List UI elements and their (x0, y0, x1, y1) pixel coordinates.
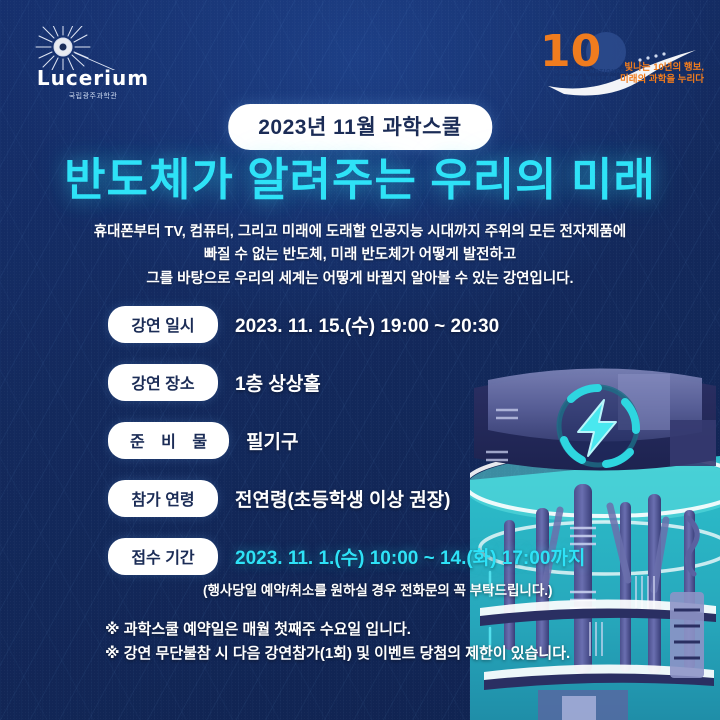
lucerium-logo: Lucerium 국립광주과학관 (18, 26, 168, 96)
detail-label-registration: 접수 기간 (108, 538, 218, 575)
description-line-3: 그를 바탕으로 우리의 세계는 어떻게 바뀔지 알아볼 수 있는 강연입니다. (0, 268, 720, 291)
detail-value-venue: 1층 상상홀 (235, 369, 321, 396)
description-line-1: 휴대폰부터 TV, 컴퓨터, 그리고 미래에 도래할 인공지능 시대까지 주위의… (0, 221, 720, 244)
detail-row-venue: 강연 장소 1층 상상홀 (108, 364, 668, 401)
detail-label-supplies: 준 비 물 (108, 422, 229, 459)
detail-row-supplies: 준 비 물 필기구 (108, 422, 668, 459)
footer-notes: ※ 과학스쿨 예약일은 매월 첫째주 수요일 입니다. ※ 강연 무단불참 시 … (105, 618, 570, 667)
detail-row-datetime: 강연 일시 2023. 11. 15.(수) 19:00 ~ 20:30 (108, 306, 668, 343)
detail-value-age: 전연령(초등학생 이상 권장) (235, 485, 451, 512)
page-title: 반도체가 알려주는 우리의 미래 (0, 143, 720, 208)
brand-name: Lucerium (18, 66, 168, 90)
detail-value-supplies: 필기구 (246, 427, 298, 454)
event-details-list: 강연 일시 2023. 11. 15.(수) 19:00 ~ 20:30 강연 … (108, 306, 668, 599)
anniversary-tagline-1: 빛나는 10년의 행보, (620, 62, 704, 74)
anniversary-english-line1: GWANGJU NATIONAL (554, 69, 625, 75)
detail-label-venue: 강연 장소 (108, 364, 218, 401)
anniversary-english-line2: SCIENCE MUSEUM (554, 76, 616, 82)
description-line-2: 빠질 수 없는 반도체, 미래 반도체가 어떻게 발전하고 (0, 244, 720, 267)
description-block: 휴대폰부터 TV, 컴퓨터, 그리고 미래에 도래할 인공지능 시대까지 주위의… (0, 221, 720, 291)
registration-subnote: (행사당일 예약/취소를 원하실 경우 전화문의 꼭 부탁드립니다.) (203, 579, 668, 599)
anniversary-logo: 10 GWANGJU NATIONAL SCIENCE MUSEUM 빛나는 1… (518, 20, 708, 100)
detail-value-datetime: 2023. 11. 15.(수) 19:00 ~ 20:30 (235, 311, 499, 338)
starburst-light-icon (18, 26, 168, 70)
detail-label-age: 참가 연령 (108, 480, 218, 517)
detail-value-registration: 2023. 11. 1.(수) 10:00 ~ 14.(화) 17:00까지 (235, 543, 585, 570)
footer-note-2: ※ 강연 무단불참 시 다음 강연참가(1회) 및 이벤트 당첨의 제한이 있습… (105, 642, 570, 666)
anniversary-tagline-2: 미래의 과학을 누리다 (620, 74, 704, 86)
detail-row-registration: 접수 기간 2023. 11. 1.(수) 10:00 ~ 14.(화) 17:… (108, 538, 668, 575)
brand-subtitle: 국립광주과학관 (18, 91, 168, 101)
footer-note-1: ※ 과학스쿨 예약일은 매월 첫째주 수요일 입니다. (105, 618, 570, 642)
detail-label-datetime: 강연 일시 (108, 306, 218, 343)
detail-row-age: 참가 연령 전연령(초등학생 이상 권장) (108, 480, 668, 517)
poster-canvas: Lucerium 국립광주과학관 10 GWANGJU NATIONAL SCI… (0, 0, 720, 720)
